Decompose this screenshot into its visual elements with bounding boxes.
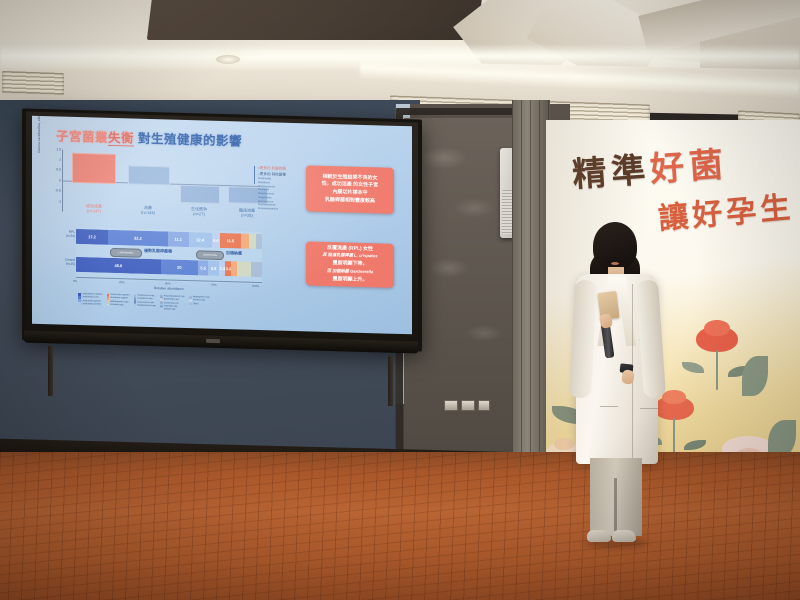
coat-pocket	[640, 408, 658, 422]
bar-0[interactable]	[72, 153, 116, 184]
pill-lactobacillus: Lactobacillus	[110, 248, 142, 258]
legend-column-0: Lactobacillus crispatusLactobacillus ine…	[78, 293, 103, 309]
conference-room-scene: 子宮菌叢失衡 對生殖健康的影響 Genera Lactobacillus, ef…	[0, 0, 800, 600]
stack-segment-3[interactable]: 5.8	[208, 261, 219, 276]
stack-segment-6[interactable]	[241, 234, 249, 249]
legend-label: Lactobacillus jensenii	[82, 303, 102, 306]
legend-item: Dialister spp.	[160, 308, 185, 311]
wall-outlet[interactable]	[444, 400, 458, 411]
bar-2[interactable]	[180, 185, 220, 204]
presentation-slide[interactable]: 子宮菌叢失衡 對生殖健康的影響 Genera Lactobacillus, ef…	[32, 116, 412, 335]
bar-1[interactable]	[128, 165, 170, 185]
ceiling-downlight	[216, 55, 240, 64]
screen-brand-logo	[206, 339, 220, 343]
legend-label: Others	[193, 303, 199, 305]
legend-column-1: Gardnerella vaginalisAtopobium vaginaeBi…	[107, 294, 130, 310]
coat-pocket	[600, 406, 618, 420]
x-tick-1: 25%	[119, 280, 125, 284]
stack-segment-8[interactable]	[256, 234, 262, 249]
ceiling-recess	[147, 0, 483, 40]
y-axis-title: Genera Lactobacillus, effect size	[37, 116, 41, 153]
slide-title-emphasis: 失衡	[108, 131, 134, 147]
callout1-line1: 性，成功活產 的女性子宮	[322, 181, 378, 189]
stack-segment-0[interactable]: 17.2	[76, 229, 108, 245]
x-tick-0: 0%	[73, 279, 77, 283]
pillar-seams	[512, 100, 550, 498]
y-tick: -1	[49, 199, 61, 203]
stack-segment-2[interactable]: 11.1	[168, 231, 189, 247]
x-tick-3: 75%	[211, 283, 217, 287]
stack-row-label-control: Control (n=15)	[59, 257, 75, 266]
screen-stand-leg	[388, 356, 393, 406]
bar-category-n: (n=28)	[223, 212, 271, 219]
stack-segment-1[interactable]: 20	[161, 259, 198, 275]
callout2-line0: 反覆流產 (RPL) 女性	[327, 245, 373, 252]
room-pillar	[512, 100, 550, 498]
pill-gardnerella: Gardnerella	[196, 250, 224, 260]
annotation-gard-text: 加德納菌	[226, 250, 242, 256]
trouser-seam	[614, 478, 617, 536]
bar-chart-legend: ↑更多的 乳酸桿菌 ↓更多的 其他菌種 Gardnerella Atopobiu…	[254, 166, 310, 213]
wall-outlet[interactable]	[478, 400, 490, 411]
annotation-lacto-text: 優勢乳酸桿菌種	[144, 248, 172, 255]
stack-segment-1[interactable]: 32.2	[108, 230, 168, 247]
callout2-line3: 而 加德納菌 Gardnerella	[327, 268, 374, 274]
callout2-line1: 其 陰道乳酸桿菌 L. crispatus	[322, 252, 377, 259]
legend-label: Prevotella spp.	[110, 304, 124, 306]
stack-segment-3[interactable]: 12.4	[189, 232, 212, 248]
legend-column-4: Megasphaera spp.Sneathia spp.Others	[189, 296, 210, 312]
y-tick: 1.5	[49, 147, 61, 151]
legend-swatch	[189, 302, 192, 305]
callout-lactobacillus: 相較於生殖結果不良的女 性，成功活產 的女性子宮 內膜切片樣本中 乳酸桿菌相對豐…	[306, 165, 394, 213]
callout2-line4: 豐度明顯上升。	[332, 276, 367, 283]
stack-segment-2[interactable]: 5.5	[198, 260, 208, 275]
bar-category-0: 成功活產 (n=147)	[68, 203, 120, 215]
legend-swatch	[134, 304, 137, 307]
hvac-grille	[2, 71, 64, 95]
stack-row-label-rpl: RPL (n=24)	[59, 229, 75, 238]
trousers	[590, 458, 642, 536]
x-tick-2: 50%	[165, 281, 171, 285]
mouth	[611, 262, 619, 265]
bar-category-1: 流產 (n=144)	[124, 204, 172, 216]
shoe	[587, 530, 611, 542]
stack-segment-7[interactable]	[237, 261, 251, 276]
y-tick: 1	[49, 157, 61, 161]
shoe	[612, 530, 636, 542]
screen-stand-leg	[48, 346, 53, 396]
callout1-line2: 內膜切片樣本中	[332, 189, 367, 196]
relative-abundance-chart: RPL (n=24) 17.232.211.112.44.411.5 Lacto…	[76, 227, 262, 284]
stack-segment-5[interactable]: 11.5	[220, 233, 241, 249]
carpet-pattern	[0, 452, 800, 600]
legend-item: Prevotella spp.	[107, 303, 130, 306]
legend-column-3: Propionibacterium spp.Bacteroides spp.Es…	[160, 295, 185, 311]
legend-label: Dialister spp.	[164, 308, 176, 310]
legend-column-2: Streptococcus spp.Ureaplasma spp.Enteroc…	[134, 295, 157, 311]
stack-segment-0[interactable]: 45.6	[76, 257, 161, 274]
stack-segment-7[interactable]	[249, 234, 256, 249]
y-tick: -0.5	[49, 188, 61, 192]
callout2-line2: 豐度明顯下降，	[332, 260, 367, 267]
bar-category-n: (n=147)	[68, 208, 120, 215]
presenter: ◦◦◦◦◦	[560, 222, 680, 552]
callout1-line3: 乳酸桿菌相對豐度較高	[325, 197, 375, 204]
legend-swatch	[160, 308, 163, 311]
legend-item: Lactobacillus jensenii	[78, 303, 103, 306]
legend-swatch	[107, 303, 110, 306]
legend-swatch	[78, 303, 81, 306]
row-sub: (n=15)	[59, 262, 75, 267]
wall-outlet[interactable]	[461, 400, 475, 411]
bar-category-n: (n=27)	[175, 211, 223, 218]
species-legend: Lactobacillus crispatusLactobacillus ine…	[78, 293, 278, 314]
row-sub: (n=24)	[59, 234, 75, 239]
y-tick: 0.5	[49, 167, 61, 171]
legend-item: Staphylococcus spp.	[134, 304, 157, 307]
stack-segment-4[interactable]: 4.4	[212, 233, 220, 248]
legend-item: Others	[189, 302, 210, 305]
effect-size-bar-chart: Genera Lactobacillus, effect size 1.5 1 …	[62, 150, 252, 223]
stack-segment-8[interactable]	[251, 262, 262, 277]
slide-title: 子宮菌叢失衡 對生殖健康的影響	[56, 125, 242, 149]
x-tick-4: 100%	[252, 284, 259, 288]
y-tick: 0	[49, 178, 61, 182]
legend-axis-line	[254, 166, 255, 184]
carpet-floor	[0, 452, 800, 600]
callout-rpl: 反覆流產 (RPL) 女性 其 陰道乳酸桿菌 L. crispatus 豐度明顯…	[306, 241, 394, 287]
legend-label: Staphylococcus spp.	[137, 304, 156, 307]
callout1-line0: 相較於生殖結果不良的女	[322, 173, 377, 181]
slide-title-part1: 子宮菌叢	[56, 129, 108, 144]
slide-title-part2: 對生殖健康的影響	[134, 132, 242, 149]
bar-category-n: (n=144)	[124, 210, 172, 217]
bar-category-2: 生化懷孕 (n=27)	[175, 206, 223, 218]
